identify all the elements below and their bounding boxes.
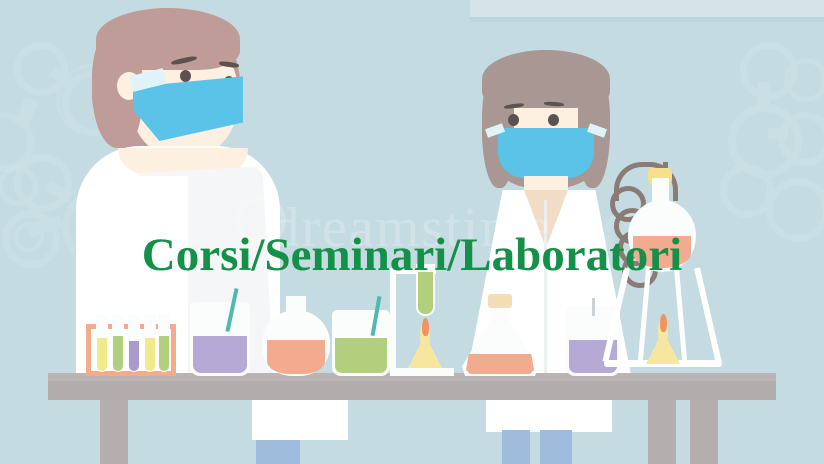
flask-stopper <box>488 294 512 308</box>
flask-liquid <box>267 340 325 374</box>
laboratory-banner-image: dreamstime Corsi/Seminari/Laboratori <box>0 0 824 464</box>
trousers-right <box>540 430 572 464</box>
beaker-green <box>332 310 390 376</box>
beaker-liquid <box>335 338 387 373</box>
eye <box>180 70 191 82</box>
wall-shelf-shadow <box>470 17 824 22</box>
coat-button-line <box>544 200 547 376</box>
test-tube-liquid <box>97 338 107 371</box>
stir-rod <box>592 298 595 316</box>
trousers-left <box>502 430 530 464</box>
coat-hem <box>252 400 348 440</box>
bench-leg <box>690 400 718 464</box>
flame-tip <box>422 318 429 336</box>
bench-leg <box>100 400 128 464</box>
tripod-leg <box>602 267 629 362</box>
erlenmeyer-flask-orange <box>462 292 538 376</box>
tripod-leg <box>674 268 687 364</box>
test-tube-liquid <box>159 336 169 371</box>
tripod-leg <box>694 267 721 362</box>
stand-post <box>390 268 396 376</box>
eye <box>548 114 559 126</box>
wall-shelf <box>470 0 824 17</box>
stand-base <box>390 368 454 376</box>
flame-tip <box>660 314 667 332</box>
eye <box>508 114 519 126</box>
test-tube-rack <box>86 324 176 376</box>
beaker-purple <box>190 302 250 376</box>
test-tube-liquid <box>129 341 139 371</box>
test-tube-liquid <box>145 338 155 371</box>
face-mask <box>498 128 594 178</box>
bench-leg <box>648 400 676 464</box>
beaker-liquid <box>193 336 247 373</box>
page-title: Corsi/Seminari/Laboratori <box>0 232 824 279</box>
test-tube-liquid <box>113 336 123 371</box>
molecule-watermark-icon <box>722 42 824 242</box>
round-flask-orange <box>262 300 330 376</box>
burner-stand-apparatus <box>390 268 462 376</box>
flask-liquid <box>466 354 534 374</box>
